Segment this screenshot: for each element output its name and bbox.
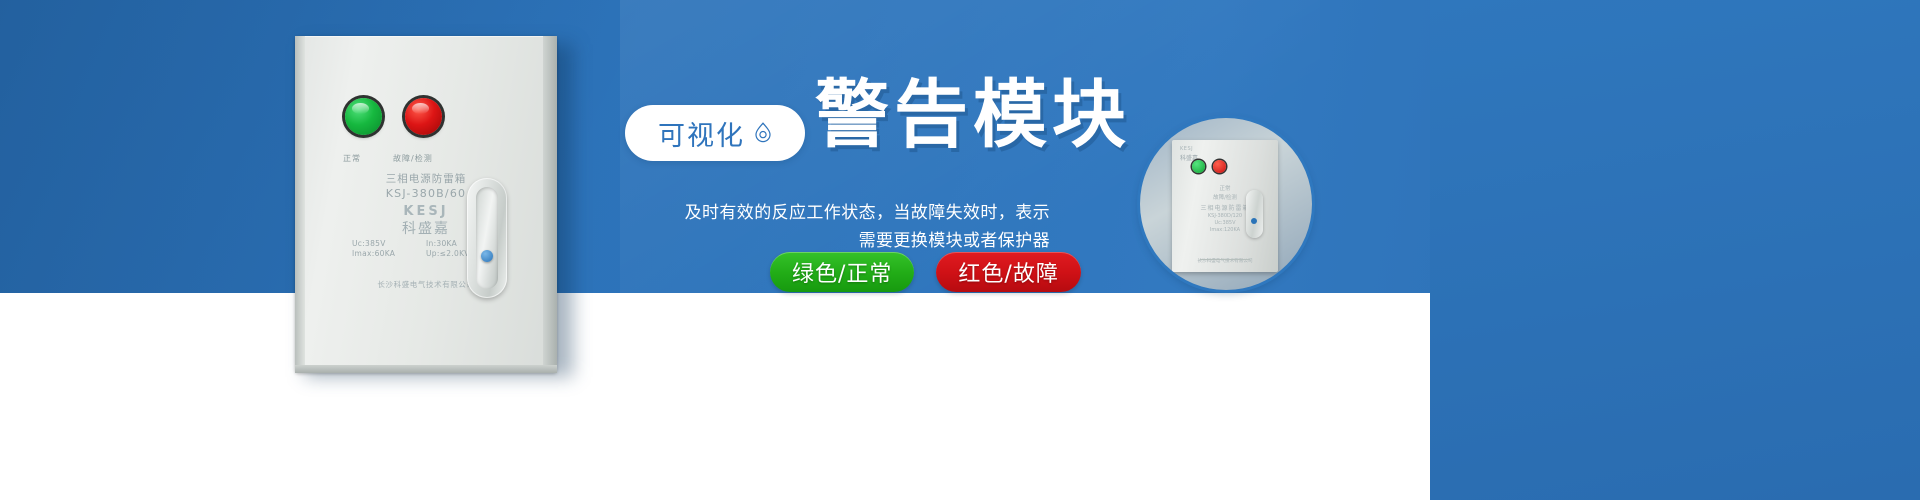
product-spec-imax: Imax:60KA [352,249,426,258]
led-gloss [412,103,429,114]
product-spec-row-2: Imax:60KAUp:≤2.0KV [295,249,557,258]
pill-label: 可视化 [658,114,745,153]
status-badge-normal[interactable]: 绿色/正常 [770,252,914,292]
inset-enclosure-feet [1200,259,1250,264]
inset-door-handle [1246,190,1263,238]
product-spec-uc: Uc:385V [352,239,426,248]
led-gloss [352,103,369,114]
led-label-fault: 故障/检测 [393,153,433,164]
product-enclosure: 正常 故障/检测 三相电源防雷箱 KSJ-380B/60 KESJ 科盛嘉 Uc… [295,36,557,373]
subtitle-line-1: 及时有效的反应工作状态，当故障失效时，表示 [600,200,1050,228]
inset-led-label-normal: 正常 [1172,184,1278,192]
product-brand-latin: KESJ [295,204,557,219]
eye-diamond-icon [754,122,772,144]
enclosure-door-handle [467,178,507,298]
product-title: 三相电源防雷箱 [295,171,557,186]
product-model: KSJ-380B/60 [295,187,557,200]
visualization-pill: 可视化 [625,105,805,161]
handle-lock-dot [481,250,493,262]
promo-banner: 正常 故障/检测 三相电源防雷箱 KSJ-380B/60 KESJ 科盛嘉 Uc… [0,0,1920,500]
inset-enclosure: KESJ 科盛嘉 正常 故障/检测 三相电源防雷箱 KSJ-380D/120 U… [1172,140,1278,272]
status-badge-group: 绿色/正常 红色/故障 [770,252,1081,292]
led-label-normal: 正常 [343,153,361,164]
inset-indicator-led-red [1213,160,1226,173]
product-brand-chinese: 科盛嘉 [295,218,557,238]
inset-brand-latin: KESJ [1180,146,1193,152]
indicator-led-red [405,98,442,135]
indicator-led-green [345,98,382,135]
inset-handle-lock-dot [1251,218,1257,224]
product-spec-row-1: Uc:385VIn:30KA [295,239,557,248]
subtitle-line-2: 需要更换模块或者保护器 [600,228,1050,256]
enclosure-bottom-edge [295,365,557,373]
product-inset-thumbnail: KESJ 科盛嘉 正常 故障/检测 三相电源防雷箱 KSJ-380D/120 U… [1140,118,1312,290]
inset-indicator-led-green [1192,160,1205,173]
handle-inner [476,187,498,289]
subtitle-block: 及时有效的反应工作状态，当故障失效时，表示 需要更换模块或者保护器 [600,200,1050,255]
product-image: 正常 故障/检测 三相电源防雷箱 KSJ-380B/60 KESJ 科盛嘉 Uc… [295,36,565,373]
product-company-name: 长沙科盛电气技术有限公司 [295,279,557,290]
background-blue-right [1430,0,1920,500]
status-badge-fault[interactable]: 红色/故障 [936,252,1080,292]
page-title: 警告模块 [815,78,1131,152]
